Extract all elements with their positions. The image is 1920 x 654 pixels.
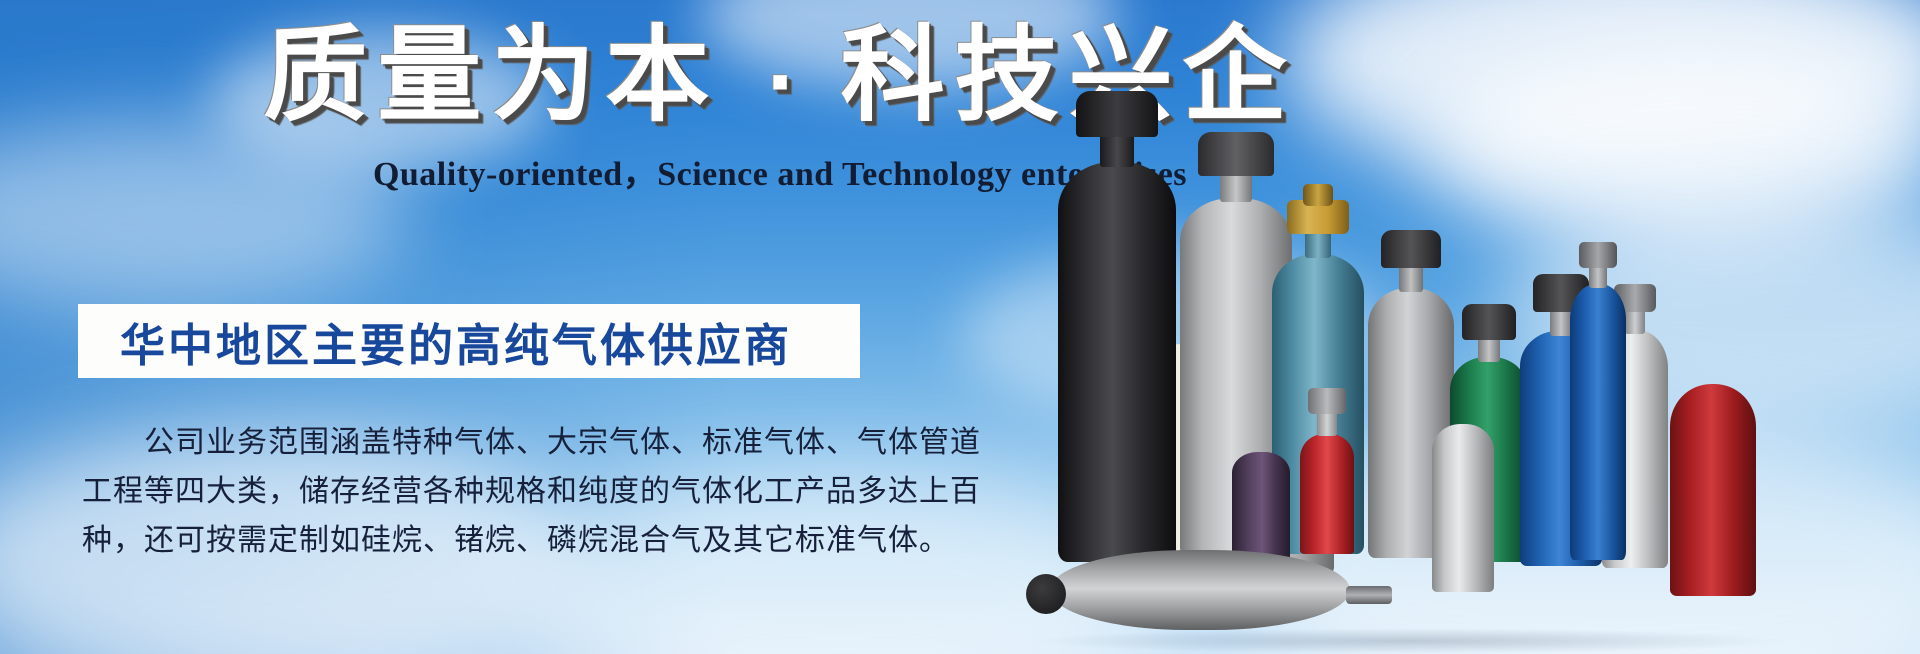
- description-paragraph: 公司业务范围涵盖特种气体、大宗气体、标准气体、气体管道 工程等四大类，储存经营各…: [82, 418, 872, 565]
- promotional-banner: 质量为本 · 科技兴企 Quality-oriented，Science and…: [0, 0, 1920, 654]
- callout-box: 华中地区主要的高纯气体供应商: [78, 304, 860, 378]
- green-cap: [1462, 304, 1516, 340]
- light-gray-cap: [1198, 132, 1274, 176]
- lying-cylinder: [1050, 550, 1350, 630]
- medium-gray-neck: [1399, 264, 1423, 292]
- callout-text: 华中地区主要的高纯气体供应商: [120, 309, 792, 374]
- headline-part-1: 质量为本: [263, 14, 719, 136]
- dark-red-bottle: [1670, 374, 1756, 596]
- black-tall-cap: [1076, 91, 1158, 137]
- cylinder-ground-shadow: [1030, 628, 1790, 654]
- silver-aluminum-bottle-short: [1432, 416, 1494, 592]
- black-tall-cylinder: [1058, 92, 1176, 562]
- lying-cylinder-valve: [1346, 586, 1392, 604]
- paragraph-line-3: 种，还可按需定制如硅烷、锗烷、磷烷混合气及其它标准气体。: [82, 516, 872, 565]
- medium-gray-cap: [1381, 230, 1441, 268]
- slim-blue-body: [1570, 284, 1626, 560]
- red-small-cylinder: [1300, 364, 1354, 554]
- silver-short-body: [1432, 424, 1494, 592]
- teal-valve-knob: [1303, 184, 1333, 206]
- red-small-body: [1300, 434, 1354, 554]
- black-tall-body: [1058, 162, 1176, 562]
- blue-neck: [1550, 308, 1572, 336]
- red-small-valve: [1308, 388, 1346, 414]
- paragraph-line-1: 公司业务范围涵盖特种气体、大宗气体、标准气体、气体管道: [82, 418, 872, 467]
- slim-blue-valve: [1579, 242, 1617, 268]
- paragraph-line-2: 工程等四大类，储存经营各种规格和纯度的气体化工产品多达上百: [82, 467, 872, 516]
- slim-blue-cylinder: [1570, 230, 1626, 560]
- headline-separator-dot: ·: [766, 38, 795, 127]
- gas-cylinder-group: [1150, 0, 1920, 654]
- dark-red-body: [1670, 384, 1756, 596]
- lying-cylinder-endcap: [1026, 574, 1066, 614]
